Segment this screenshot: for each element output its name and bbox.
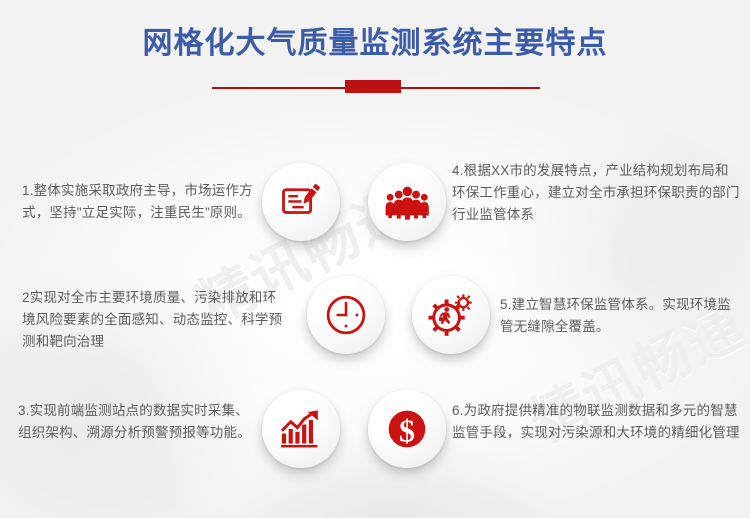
feature-text-6: 6.为政府提供精准的物联监测数据和多元的智慧监管手段，实现对污染源和大环境的精细… <box>452 400 744 444</box>
feature-icon-circle-2 <box>368 163 446 241</box>
feature-text-2: 2实现对全市主要环境质量、污染排放和环境风险要素的全面感知、动态监控、科学预测和… <box>22 287 284 353</box>
feature-highlight-page: 精讯畅通 精讯畅通 网格化大气质量监测系统主要特点 <box>0 0 750 518</box>
feature-icon-circle-5 <box>262 390 340 468</box>
bar-chart-arrow-icon <box>279 409 323 449</box>
document-pen-icon <box>280 181 322 223</box>
title-divider <box>0 78 750 98</box>
feature-text-1: 1.整体实施采取政府主导，市场运作方式，坚持"立足实际，注重民生”原则。 <box>22 180 254 224</box>
feature-icon-circle-1 <box>262 163 340 241</box>
divider-block <box>345 80 401 93</box>
dollar-sign-icon: $ <box>385 407 429 451</box>
person-gear-icon <box>428 293 474 337</box>
feature-text-3: 3.实现前端监测站点的数据实时采集、组织架构、溯源分析预警预报等功能。 <box>18 400 258 444</box>
feature-icon-circle-3 <box>307 276 385 354</box>
clock-icon <box>324 293 368 337</box>
feature-text-5: 5.建立智慧环保监管体系。实现环境监管无缝隙全覆盖。 <box>500 294 738 338</box>
feature-icon-circle-6: $ <box>368 390 446 468</box>
svg-text:$: $ <box>399 412 415 448</box>
feature-icon-circle-4 <box>412 276 490 354</box>
feature-text-4: 4.根据XX市的发展特点，产业结构规划布局和环保工作重心，建立对全市承担环保职责… <box>452 160 740 226</box>
people-group-icon <box>385 182 429 222</box>
page-title: 网格化大气质量监测系统主要特点 <box>0 18 750 62</box>
